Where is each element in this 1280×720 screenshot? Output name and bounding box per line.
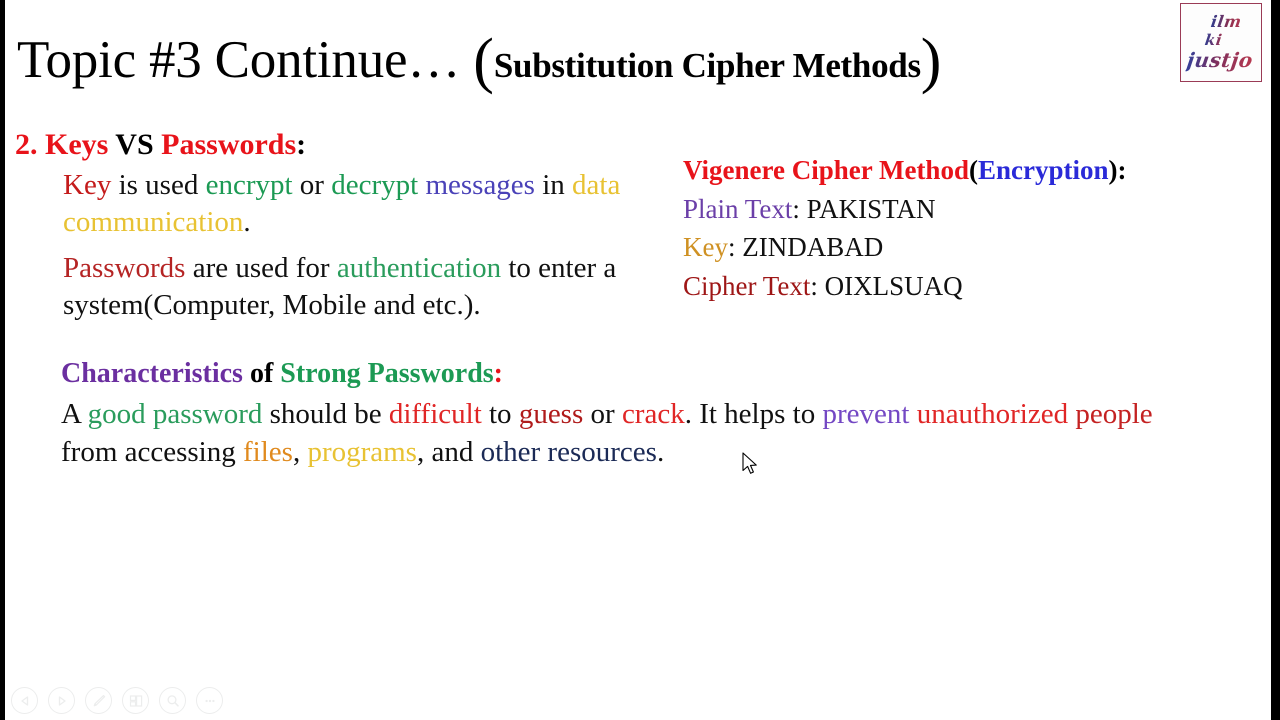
decrypt-word: decrypt (331, 169, 418, 201)
char-text-7: , (293, 436, 308, 468)
heading-vs-word: VS (108, 128, 161, 161)
char-text-4: or (583, 398, 622, 430)
characteristics-section: Characteristics of Strong Passwords: A g… (61, 358, 1241, 472)
heading-vigenere-cipher-method: Vigenere Cipher Method(Encryption): (683, 155, 1243, 186)
programs-word: programs (307, 436, 417, 468)
other-resources-words: other resources (481, 436, 657, 468)
cipher-key-label: Key (683, 232, 728, 262)
plain-text-value: : PAKISTAN (792, 194, 935, 224)
key-word: Key (63, 169, 111, 201)
triangle-right-icon (56, 695, 68, 707)
slide-title-subtitle: Substitution Cipher Methods (494, 46, 921, 85)
crack-word: crack (622, 398, 685, 430)
title-paren-open: ( (473, 27, 494, 95)
heading-keys-vs-passwords: 2. Keys VS Passwords: (15, 128, 665, 161)
encrypt-word: encrypt (206, 169, 293, 201)
slideshow-toolbar (11, 687, 223, 714)
char-text-8: , and (417, 436, 481, 468)
strong-passwords-words: Strong Passwords (280, 358, 493, 389)
people-word: people (1068, 398, 1153, 430)
char-text-3: to (482, 398, 519, 430)
characteristics-word: Characteristics (61, 358, 243, 389)
cipher-text-value: : OIXLSUAQ (810, 271, 962, 301)
brand-logo: ilm ki justjo (1180, 3, 1262, 82)
heading-keys-word: Keys (45, 128, 108, 161)
prevent-word: prevent (822, 398, 909, 430)
plain-text-label: Plain Text (683, 194, 792, 224)
slide-title-main: Topic #3 Continue… (17, 31, 473, 89)
cipher-key-line: Key: ZINDABAD (683, 228, 1243, 266)
cipher-plain-text-line: Plain Text: PAKISTAN (683, 190, 1243, 228)
key-text-1: is used (111, 169, 205, 201)
slide-overview-button[interactable] (122, 687, 149, 714)
heading-colon: : (296, 128, 306, 161)
vigenere-paren-open: ( (969, 155, 978, 185)
left-content-column: 2. Keys VS Passwords: Key is used encryp… (15, 128, 665, 324)
more-options-button[interactable] (196, 687, 223, 714)
logo-line-ilm: ilm (1210, 12, 1243, 31)
messages-word: messages (418, 169, 535, 201)
characteristics-colon: : (494, 358, 503, 389)
cipher-text-label: Cipher Text (683, 271, 810, 301)
slide-canvas: ilm ki justjo Topic #3 Continue… (Substi… (5, 0, 1271, 720)
logo-line-ki: ki (1204, 31, 1224, 49)
char-text-period: . (657, 436, 664, 468)
next-slide-button[interactable] (48, 687, 75, 714)
paragraph-characteristics: A good password should be difficult to g… (61, 396, 1191, 471)
heading-passwords-word: Passwords (161, 128, 296, 161)
key-text-3: in (535, 169, 572, 201)
title-paren-close: ) (921, 27, 942, 95)
presentation-slide-window: ilm ki justjo Topic #3 Continue… (Substi… (0, 0, 1280, 720)
grid-slides-icon (128, 693, 144, 709)
files-word: files (243, 436, 293, 468)
encryption-word: Encryption (978, 155, 1109, 185)
char-text-5: . It helps to (685, 398, 823, 430)
cipher-key-value: : ZINDABAD (728, 232, 883, 262)
key-text-period: . (243, 206, 250, 238)
guess-word: guess (519, 398, 583, 430)
authentication-word: authentication (337, 252, 501, 284)
cipher-text-line: Cipher Text: OIXLSUAQ (683, 267, 1243, 305)
characteristics-of-word: of (243, 358, 280, 389)
heading-number: 2. (15, 128, 45, 161)
unauthorized-word: unauthorized (909, 398, 1068, 430)
ellipsis-icon (202, 693, 218, 709)
triangle-left-icon (19, 695, 31, 707)
char-text-6: from accessing (61, 436, 243, 468)
char-text-1: A (61, 398, 88, 430)
zoom-tool-button[interactable] (159, 687, 186, 714)
paragraph-password-definition: Passwords are used for authentication to… (63, 250, 665, 324)
difficult-word: difficult (389, 398, 482, 430)
key-text-2: or (293, 169, 332, 201)
previous-slide-button[interactable] (11, 687, 38, 714)
char-text-2: should be (262, 398, 388, 430)
pwd-text-1: are used for (185, 252, 336, 284)
slide-title: Topic #3 Continue… (Substitution Cipher … (17, 26, 941, 97)
vigenere-title-word: Vigenere Cipher Method (683, 155, 969, 185)
pen-tool-button[interactable] (85, 687, 112, 714)
right-content-column: Vigenere Cipher Method(Encryption): Plai… (683, 155, 1243, 305)
heading-characteristics: Characteristics of Strong Passwords: (61, 358, 1241, 390)
good-password-words: good password (88, 398, 263, 430)
pen-icon (91, 693, 107, 709)
passwords-word: Passwords (63, 252, 185, 284)
logo-inner: ilm ki justjo (1181, 4, 1261, 81)
vigenere-paren-close: ): (1109, 155, 1127, 185)
logo-line-justjo: justjo (1185, 48, 1254, 72)
magnifier-icon (165, 693, 181, 709)
paragraph-key-definition: Key is used encrypt or decrypt messages … (63, 167, 665, 241)
